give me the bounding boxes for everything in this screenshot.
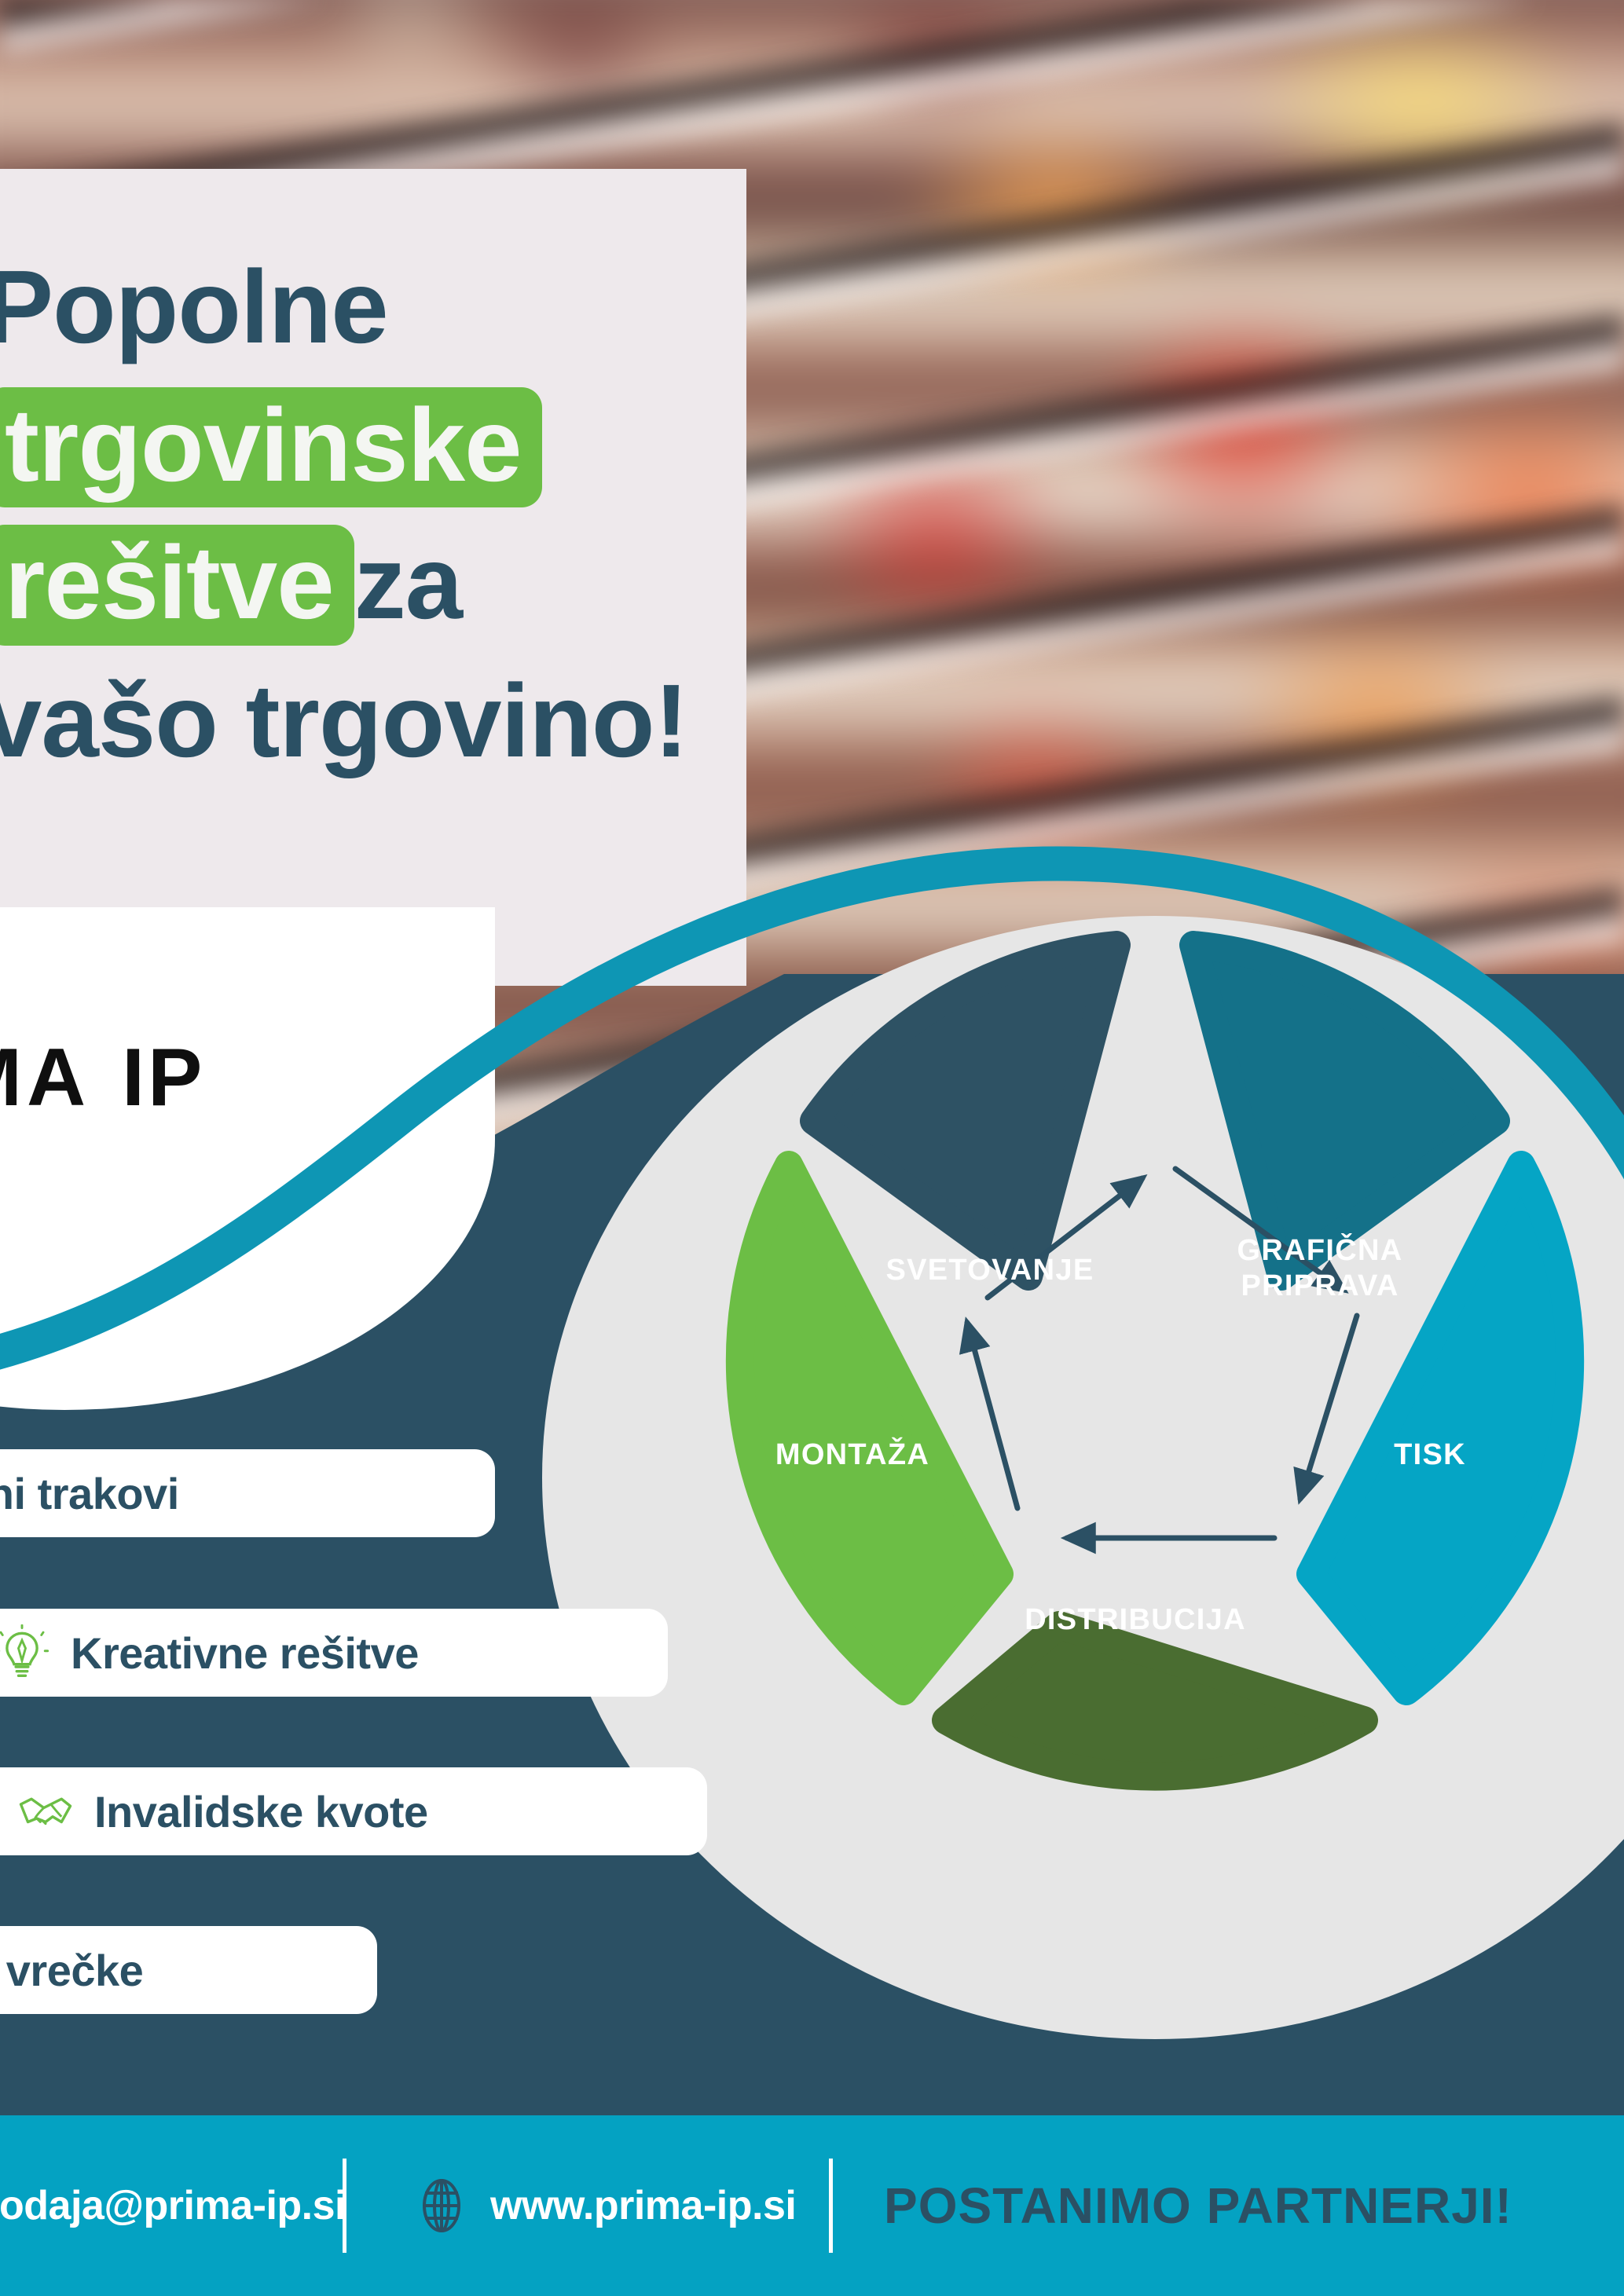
footer-bar: prodaja@prima-ip.si www.prima-ip.si POST… bbox=[0, 2115, 1624, 2296]
footer-divider-2 bbox=[829, 2159, 833, 2253]
footer-website[interactable]: www.prima-ip.si bbox=[416, 2176, 796, 2236]
footer-cta-wrap: POSTANIMO PARTNERJI! bbox=[884, 2177, 1512, 2235]
page-title: Popolne trgovinske rešitveza vašo trgovi… bbox=[0, 169, 746, 789]
footer-cta: POSTANIMO PARTNERJI! bbox=[884, 2177, 1512, 2234]
pentagon-segment-graficna bbox=[1193, 945, 1496, 1276]
feature-pill-invalidske-kvote[interactable]: Invalidske kvote bbox=[0, 1767, 707, 1855]
feature-pill-ovratni-trakovi[interactable]: Ovratni trakovi bbox=[0, 1449, 495, 1537]
headline-line-4: vašo trgovino! bbox=[0, 652, 746, 790]
headline-line-1: Popolne bbox=[0, 238, 746, 376]
feature-pill-label: Invalidske kvote bbox=[94, 1786, 428, 1837]
footer-website-text: www.prima-ip.si bbox=[490, 2182, 796, 2229]
pentagon-segment-distribucija bbox=[946, 1625, 1364, 1777]
headline-line-2-highlight: trgovinske bbox=[0, 387, 542, 508]
brand-logo: PRIMA IP bbox=[0, 1037, 205, 1119]
globe-icon bbox=[416, 2176, 467, 2236]
feature-pill-label: Papirnate vrečke bbox=[0, 1945, 143, 1996]
poster-canvas: Popolne trgovinske rešitveza vašo trgovi… bbox=[0, 0, 1624, 2296]
lightbulb-pen-icon bbox=[0, 1624, 50, 1681]
headline-line-3-highlight: rešitve bbox=[0, 525, 354, 646]
footer-divider-1 bbox=[343, 2159, 346, 2253]
arrow-distribucija-to-montaza bbox=[967, 1323, 1017, 1508]
footer-email[interactable]: prodaja@prima-ip.si bbox=[0, 2181, 346, 2230]
feature-pill-kreativne-resitve[interactable]: Kreativne rešitve bbox=[0, 1609, 668, 1697]
pentagon-segment-svetovanje bbox=[814, 945, 1116, 1276]
feature-pill-label: Ovratni trakovi bbox=[0, 1468, 179, 1519]
logo-ip-mark: IP bbox=[122, 1037, 205, 1119]
footer-email-text: prodaja@prima-ip.si bbox=[0, 2182, 346, 2229]
headline-line-3-tail: za bbox=[354, 525, 462, 640]
feature-pill-papirnate-vrecke[interactable]: Papirnate vrečke bbox=[0, 1926, 377, 2014]
handshake-icon bbox=[17, 1783, 74, 1840]
feature-pill-label: Kreativne rešitve bbox=[71, 1628, 419, 1679]
logo-wordmark: PRIMA bbox=[0, 1037, 90, 1119]
process-pentagon-diagram: SVETOVANJE GRAFIČNA PRIPRAVA TISK DISTRI… bbox=[691, 895, 1619, 1822]
